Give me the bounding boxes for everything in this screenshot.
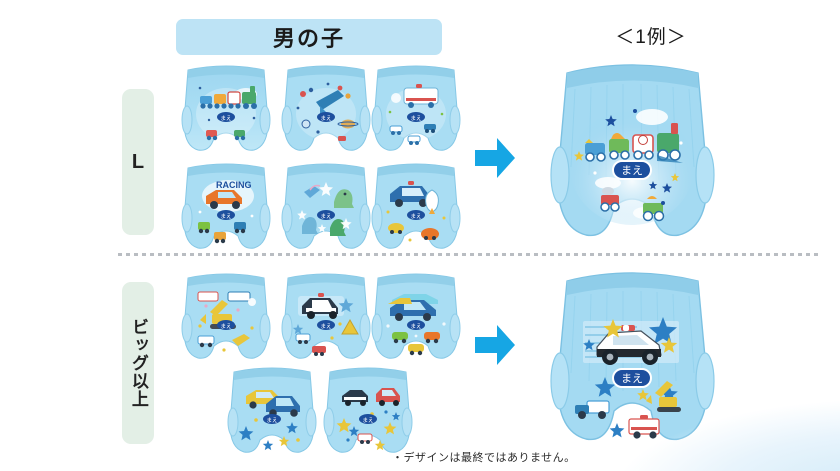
footnote-disclaimer: ・デザインは最終ではありません。	[392, 449, 576, 465]
svg-text:まえ: まえ	[410, 213, 421, 220]
thumbnail-pant-emergency-stars: まえ	[318, 364, 418, 460]
front-badge-text: まえ	[621, 372, 643, 385]
size-tab-l: L	[122, 89, 154, 235]
example-pant-police-car: まえ	[545, 265, 720, 450]
example-label: ＜1例＞	[566, 22, 736, 49]
thumbnail-pant-police-car-rocket: まえ	[366, 160, 466, 256]
svg-text:まえ: まえ	[320, 115, 331, 122]
svg-text:まえ: まえ	[410, 323, 421, 330]
thumbnail-pant-ambulance: まえ	[366, 62, 466, 158]
size-tab-big: ビッグ以上	[122, 282, 154, 444]
svg-text:RACING: RACING	[216, 180, 252, 190]
thumbnail-pant-dinosaur: まえ	[276, 160, 376, 256]
svg-text:まえ: まえ	[410, 115, 421, 122]
thumbnail-pant-police-car: まえ	[276, 270, 376, 366]
example-pant-train: まえ	[545, 55, 720, 250]
thumbnail-pant-excavator: まえ	[176, 270, 276, 366]
svg-text:まえ: まえ	[362, 417, 373, 424]
thumbnail-pant-train: まえ	[176, 62, 276, 158]
thumbnail-pant-sports-cars: まえ	[366, 270, 466, 366]
svg-text:まえ: まえ	[220, 213, 231, 220]
svg-text:まえ: まえ	[266, 417, 277, 424]
svg-text:まえ: まえ	[320, 213, 331, 220]
thumbnail-pant-racing-car: RACING まえ	[176, 160, 276, 256]
arrow-right-icon	[473, 135, 517, 181]
thumbnail-pant-space-rocket: まえ	[276, 62, 376, 158]
product-design-sheet: 男の子 ＜1例＞ L ビッグ以上	[0, 0, 840, 471]
front-badge-text: まえ	[621, 164, 643, 177]
thumbnail-pant-two-cars-stars: まえ	[222, 364, 322, 460]
svg-text:まえ: まえ	[220, 115, 231, 122]
svg-text:まえ: まえ	[320, 323, 331, 330]
gender-banner: 男の子	[176, 19, 442, 55]
arrow-right-icon	[473, 322, 517, 368]
svg-text:まえ: まえ	[220, 323, 231, 330]
